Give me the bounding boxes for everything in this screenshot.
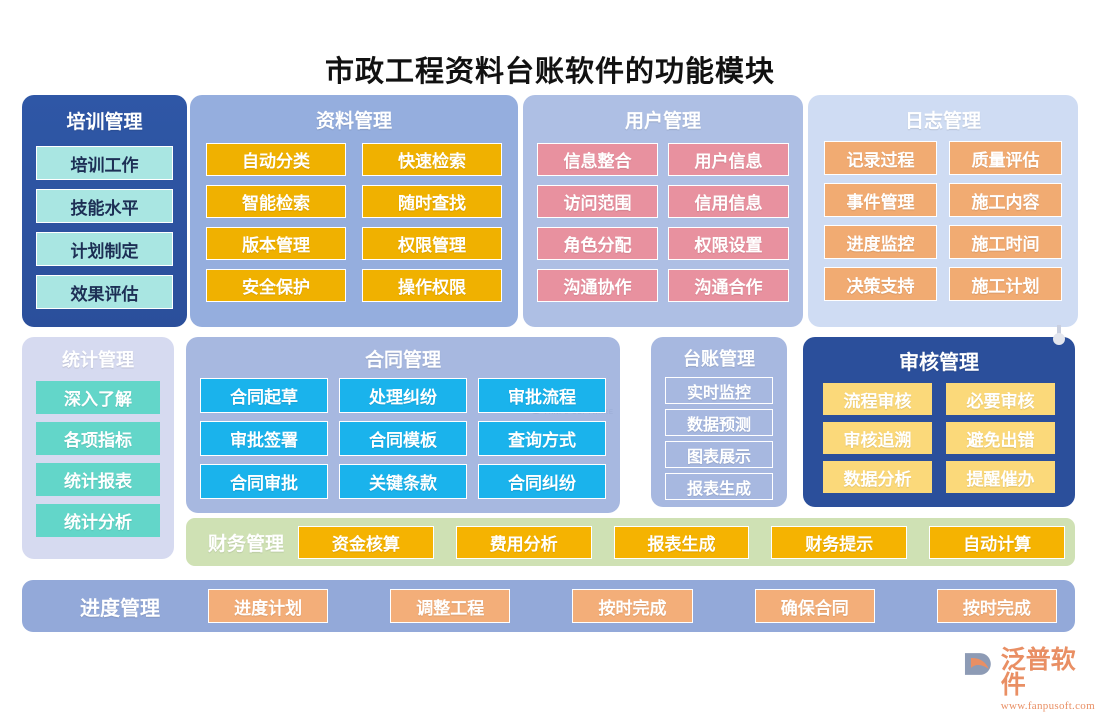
panel-audit-management[interactable]: 审核管理 流程审核 必要审核 审核追溯 避免出错 数据分析 提醒催办 xyxy=(803,337,1075,507)
chip-finance-0[interactable]: 资金核算 xyxy=(298,526,434,559)
chip-list-ledger: 实时监控 数据预测 图表展示 报表生成 xyxy=(665,377,773,500)
chip-ledger-3[interactable]: 报表生成 xyxy=(665,473,773,500)
chip-list-contract: 合同起草 处理纠纷 审批流程 审批签署 合同模板 查询方式 合同审批 关键条款 … xyxy=(200,378,606,499)
chip-stats-3[interactable]: 统计分析 xyxy=(36,504,160,537)
panel-title-training: 培训管理 xyxy=(22,107,187,134)
chip-contract-8[interactable]: 合同纠纷 xyxy=(478,464,606,499)
chip-user-4[interactable]: 角色分配 xyxy=(537,227,658,260)
chip-docs-6[interactable]: 安全保护 xyxy=(206,269,346,302)
chip-ledger-1[interactable]: 数据预测 xyxy=(665,409,773,436)
chip-list-training: 培训工作 技能水平 计划制定 效果评估 xyxy=(36,146,173,309)
chip-audit-1[interactable]: 必要审核 xyxy=(946,383,1055,415)
chip-list-docs: 自动分类 快速检索 智能检索 随时查找 版本管理 权限管理 安全保护 操作权限 xyxy=(206,143,502,302)
chip-log-7[interactable]: 施工计划 xyxy=(949,267,1062,301)
chip-user-7[interactable]: 沟通合作 xyxy=(668,269,789,302)
panel-contract-management[interactable]: 合同管理 泛普软件 FANPU SOFTWARE 合同起草 处理纠纷 审批流程 … xyxy=(186,337,620,513)
chip-audit-3[interactable]: 避免出错 xyxy=(946,422,1055,454)
panel-title-stats: 统计管理 xyxy=(22,346,174,372)
chip-user-2[interactable]: 访问范围 xyxy=(537,185,658,218)
panel-document-management[interactable]: 资料管理 自动分类 快速检索 智能检索 随时查找 版本管理 权限管理 安全保护 … xyxy=(190,95,518,327)
chip-log-3[interactable]: 施工内容 xyxy=(949,183,1062,217)
chip-user-1[interactable]: 用户信息 xyxy=(668,143,789,176)
chip-ledger-0[interactable]: 实时监控 xyxy=(665,377,773,404)
chip-log-6[interactable]: 决策支持 xyxy=(824,267,937,301)
chip-user-5[interactable]: 权限设置 xyxy=(668,227,789,260)
bar-progress-management[interactable]: 进度管理 进度计划 调整工程 按时完成 确保合同 按时完成 xyxy=(22,580,1075,632)
chip-contract-1[interactable]: 处理纠纷 xyxy=(339,378,467,413)
brand-words: 泛普软件 www.fanpusoft.com xyxy=(1001,648,1100,712)
chip-user-3[interactable]: 信用信息 xyxy=(668,185,789,218)
chip-finance-2[interactable]: 报表生成 xyxy=(614,526,750,559)
chip-log-0[interactable]: 记录过程 xyxy=(824,141,937,175)
chip-list-progress: 进度计划 调整工程 按时完成 确保合同 按时完成 xyxy=(208,589,1057,623)
chip-list-stats: 深入了解 各项指标 统计报表 统计分析 xyxy=(36,381,160,537)
bar-finance-management[interactable]: 财务管理 资金核算 费用分析 报表生成 财务提示 自动计算 xyxy=(186,518,1075,566)
fanpu-logo-icon xyxy=(962,650,996,678)
chip-list-log: 记录过程 质量评估 事件管理 施工内容 进度监控 施工时间 决策支持 施工计划 xyxy=(824,141,1062,301)
panel-title-ledger: 台账管理 xyxy=(651,345,787,371)
chip-log-2[interactable]: 事件管理 xyxy=(824,183,937,217)
brand-name: 泛普软件 xyxy=(1001,648,1100,698)
chip-user-6[interactable]: 沟通协作 xyxy=(537,269,658,302)
chip-training-2[interactable]: 计划制定 xyxy=(36,232,173,266)
chip-training-3[interactable]: 效果评估 xyxy=(36,275,173,309)
chip-progress-4[interactable]: 按时完成 xyxy=(937,589,1057,623)
brand-logo: 泛普软件 www.fanpusoft.com xyxy=(962,648,1100,712)
panel-title-audit: 审核管理 xyxy=(803,346,1075,375)
panel-ledger-management[interactable]: 台账管理 实时监控 数据预测 图表展示 报表生成 xyxy=(651,337,787,507)
chip-list-audit: 流程审核 必要审核 审核追溯 避免出错 数据分析 提醒催办 xyxy=(823,383,1055,493)
chip-contract-2[interactable]: 审批流程 xyxy=(478,378,606,413)
chip-progress-3[interactable]: 确保合同 xyxy=(755,589,875,623)
chip-stats-2[interactable]: 统计报表 xyxy=(36,463,160,496)
chip-finance-3[interactable]: 财务提示 xyxy=(771,526,907,559)
bar-label-progress: 进度管理 xyxy=(32,592,208,621)
brand-url: www.fanpusoft.com xyxy=(1001,701,1100,712)
chip-finance-1[interactable]: 费用分析 xyxy=(456,526,592,559)
chip-list-finance: 资金核算 费用分析 报表生成 财务提示 自动计算 xyxy=(298,526,1065,559)
chip-training-1[interactable]: 技能水平 xyxy=(36,189,173,223)
chip-contract-4[interactable]: 合同模板 xyxy=(339,421,467,456)
chip-docs-0[interactable]: 自动分类 xyxy=(206,143,346,176)
bar-label-finance: 财务管理 xyxy=(194,529,298,556)
chip-audit-2[interactable]: 审核追溯 xyxy=(823,422,932,454)
panel-title-log: 日志管理 xyxy=(808,106,1078,133)
panel-statistics-management[interactable]: 统计管理 深入了解 各项指标 统计报表 统计分析 xyxy=(22,337,174,559)
chip-progress-0[interactable]: 进度计划 xyxy=(208,589,328,623)
chip-audit-4[interactable]: 数据分析 xyxy=(823,461,932,493)
chip-contract-0[interactable]: 合同起草 xyxy=(200,378,328,413)
chip-contract-3[interactable]: 审批签署 xyxy=(200,421,328,456)
chip-finance-4[interactable]: 自动计算 xyxy=(929,526,1065,559)
chip-audit-0[interactable]: 流程审核 xyxy=(823,383,932,415)
chip-stats-1[interactable]: 各项指标 xyxy=(36,422,160,455)
chip-docs-7[interactable]: 操作权限 xyxy=(362,269,502,302)
panel-training-management[interactable]: 培训管理 培训工作 技能水平 计划制定 效果评估 xyxy=(22,95,187,327)
chip-docs-2[interactable]: 智能检索 xyxy=(206,185,346,218)
chip-contract-6[interactable]: 合同审批 xyxy=(200,464,328,499)
panel-title-contract: 合同管理 xyxy=(186,345,620,372)
chip-user-0[interactable]: 信息整合 xyxy=(537,143,658,176)
panel-log-management[interactable]: 日志管理 记录过程 质量评估 事件管理 施工内容 进度监控 施工时间 决策支持 … xyxy=(808,95,1078,327)
panel-title-user: 用户管理 xyxy=(523,106,803,133)
chip-audit-5[interactable]: 提醒催办 xyxy=(946,461,1055,493)
chip-training-0[interactable]: 培训工作 xyxy=(36,146,173,180)
chip-docs-5[interactable]: 权限管理 xyxy=(362,227,502,260)
chip-contract-5[interactable]: 查询方式 xyxy=(478,421,606,456)
pin-handle-icon xyxy=(1057,325,1061,339)
panel-user-management[interactable]: 用户管理 信息整合 用户信息 访问范围 信用信息 角色分配 权限设置 沟通协作 … xyxy=(523,95,803,327)
chip-log-4[interactable]: 进度监控 xyxy=(824,225,937,259)
chip-docs-4[interactable]: 版本管理 xyxy=(206,227,346,260)
chip-progress-2[interactable]: 按时完成 xyxy=(572,589,692,623)
chip-list-user: 信息整合 用户信息 访问范围 信用信息 角色分配 权限设置 沟通协作 沟通合作 xyxy=(537,143,789,302)
chip-progress-1[interactable]: 调整工程 xyxy=(390,589,510,623)
chip-docs-3[interactable]: 随时查找 xyxy=(362,185,502,218)
chip-log-1[interactable]: 质量评估 xyxy=(949,141,1062,175)
chip-log-5[interactable]: 施工时间 xyxy=(949,225,1062,259)
chip-stats-0[interactable]: 深入了解 xyxy=(36,381,160,414)
chip-docs-1[interactable]: 快速检索 xyxy=(362,143,502,176)
chip-ledger-2[interactable]: 图表展示 xyxy=(665,441,773,468)
panel-title-docs: 资料管理 xyxy=(190,106,518,133)
chip-contract-7[interactable]: 关键条款 xyxy=(339,464,467,499)
page-title: 市政工程资料台账软件的功能模块 xyxy=(0,48,1100,90)
